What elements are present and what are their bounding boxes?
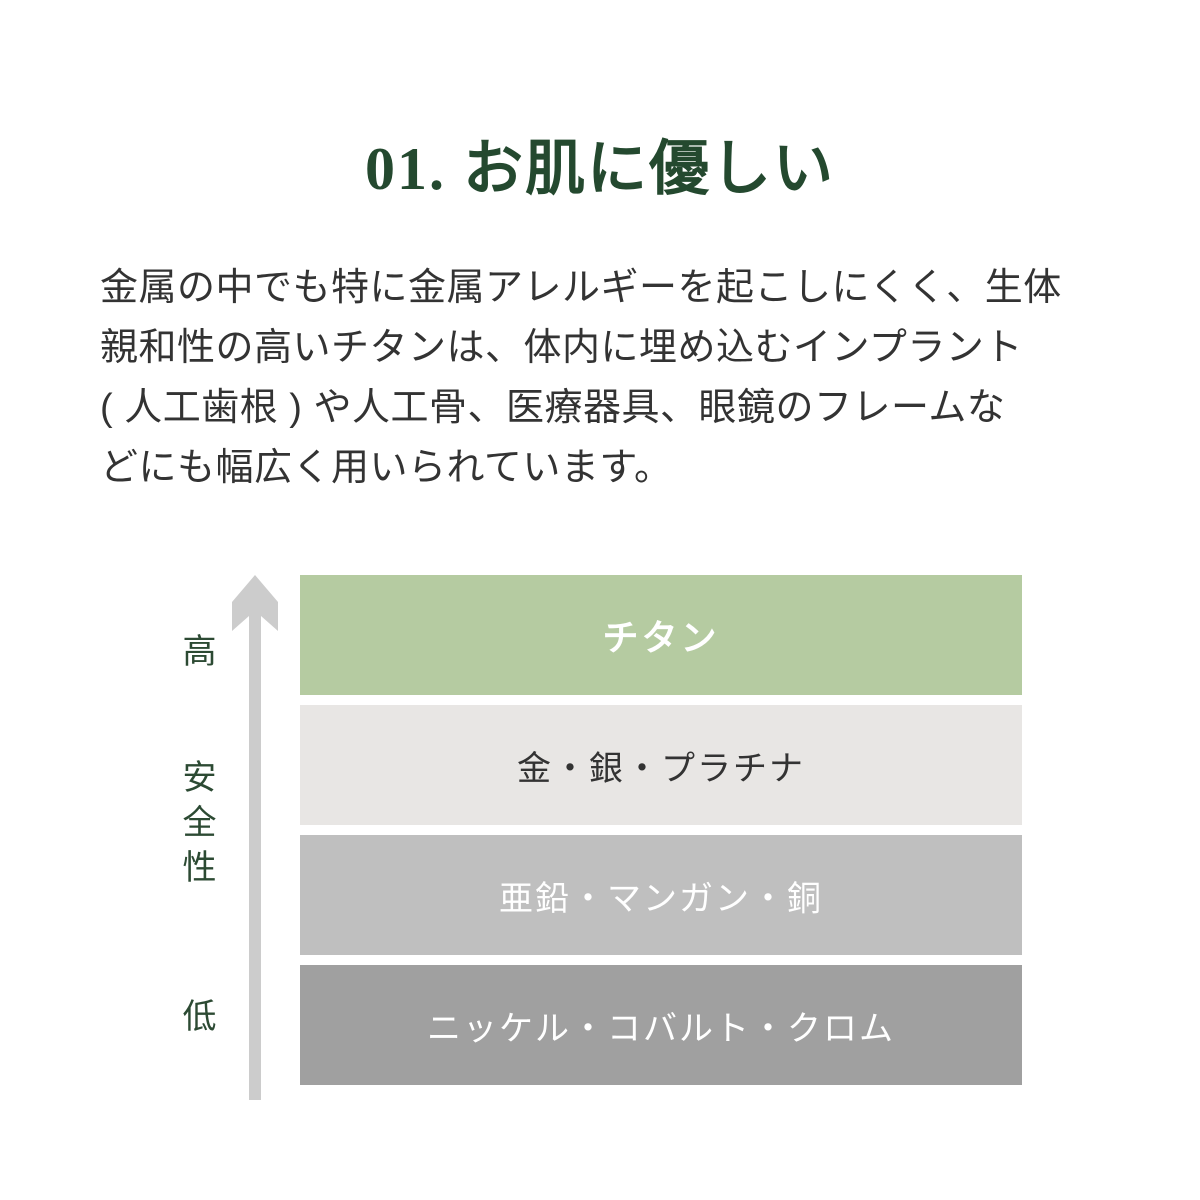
description-line-2: 親和性の高いチタンは、体内に埋め込むインプラント: [100, 318, 1110, 378]
bar-row-nickel-cobalt-chrome: ニッケル・コバルト・クロム: [300, 965, 1022, 1085]
infographic-page: 01. お肌に優しい 金属の中でも特に金属アレルギーを起こしにくく、生体 親和性…: [0, 0, 1200, 1200]
bar-label-nickel-cobalt-chrome: ニッケル・コバルト・クロム: [427, 1001, 895, 1050]
bar-label-zinc-manganese-copper: 亜鉛・マンガン・銅: [499, 871, 823, 920]
bar-row-zinc-manganese-copper: 亜鉛・マンガン・銅: [300, 835, 1022, 955]
description-line-3: ( 人工歯根 ) や人工骨、医療器具、眼鏡のフレームな: [100, 378, 1110, 438]
page-title: 01. お肌に優しい: [0, 136, 1200, 202]
axis-label-low: 低: [165, 997, 235, 1037]
bar-row-gold-silver-platinum: 金・銀・プラチナ: [300, 705, 1022, 825]
bar-row-titanium: チタン: [300, 575, 1022, 695]
axis-label-safety: 安 全 性: [165, 756, 235, 891]
description-line-4: どにも幅広く用いられています。: [100, 438, 1110, 498]
safety-ranking-chart: 高 安 全 性 低 チタン 金・銀・プラチナ 亜鉛・マンガン・銅 ニッケル・コバ…: [0, 560, 1200, 1100]
description-line-1: 金属の中でも特に金属アレルギーを起こしにくく、生体: [100, 258, 1110, 318]
bar-label-titanium: チタン: [602, 609, 719, 661]
axis-label-safety-char-1: 安: [165, 756, 235, 801]
axis-label-safety-char-2: 全: [165, 801, 235, 846]
up-arrow-icon: [232, 575, 278, 1100]
axis-label-high: 高: [165, 632, 235, 672]
description-paragraph: 金属の中でも特に金属アレルギーを起こしにくく、生体 親和性の高いチタンは、体内に…: [100, 258, 1110, 498]
axis-label-safety-char-3: 性: [165, 846, 235, 891]
bar-list: チタン 金・銀・プラチナ 亜鉛・マンガン・銅 ニッケル・コバルト・クロム: [300, 575, 1022, 1085]
bar-label-gold-silver-platinum: 金・銀・プラチナ: [517, 741, 805, 790]
